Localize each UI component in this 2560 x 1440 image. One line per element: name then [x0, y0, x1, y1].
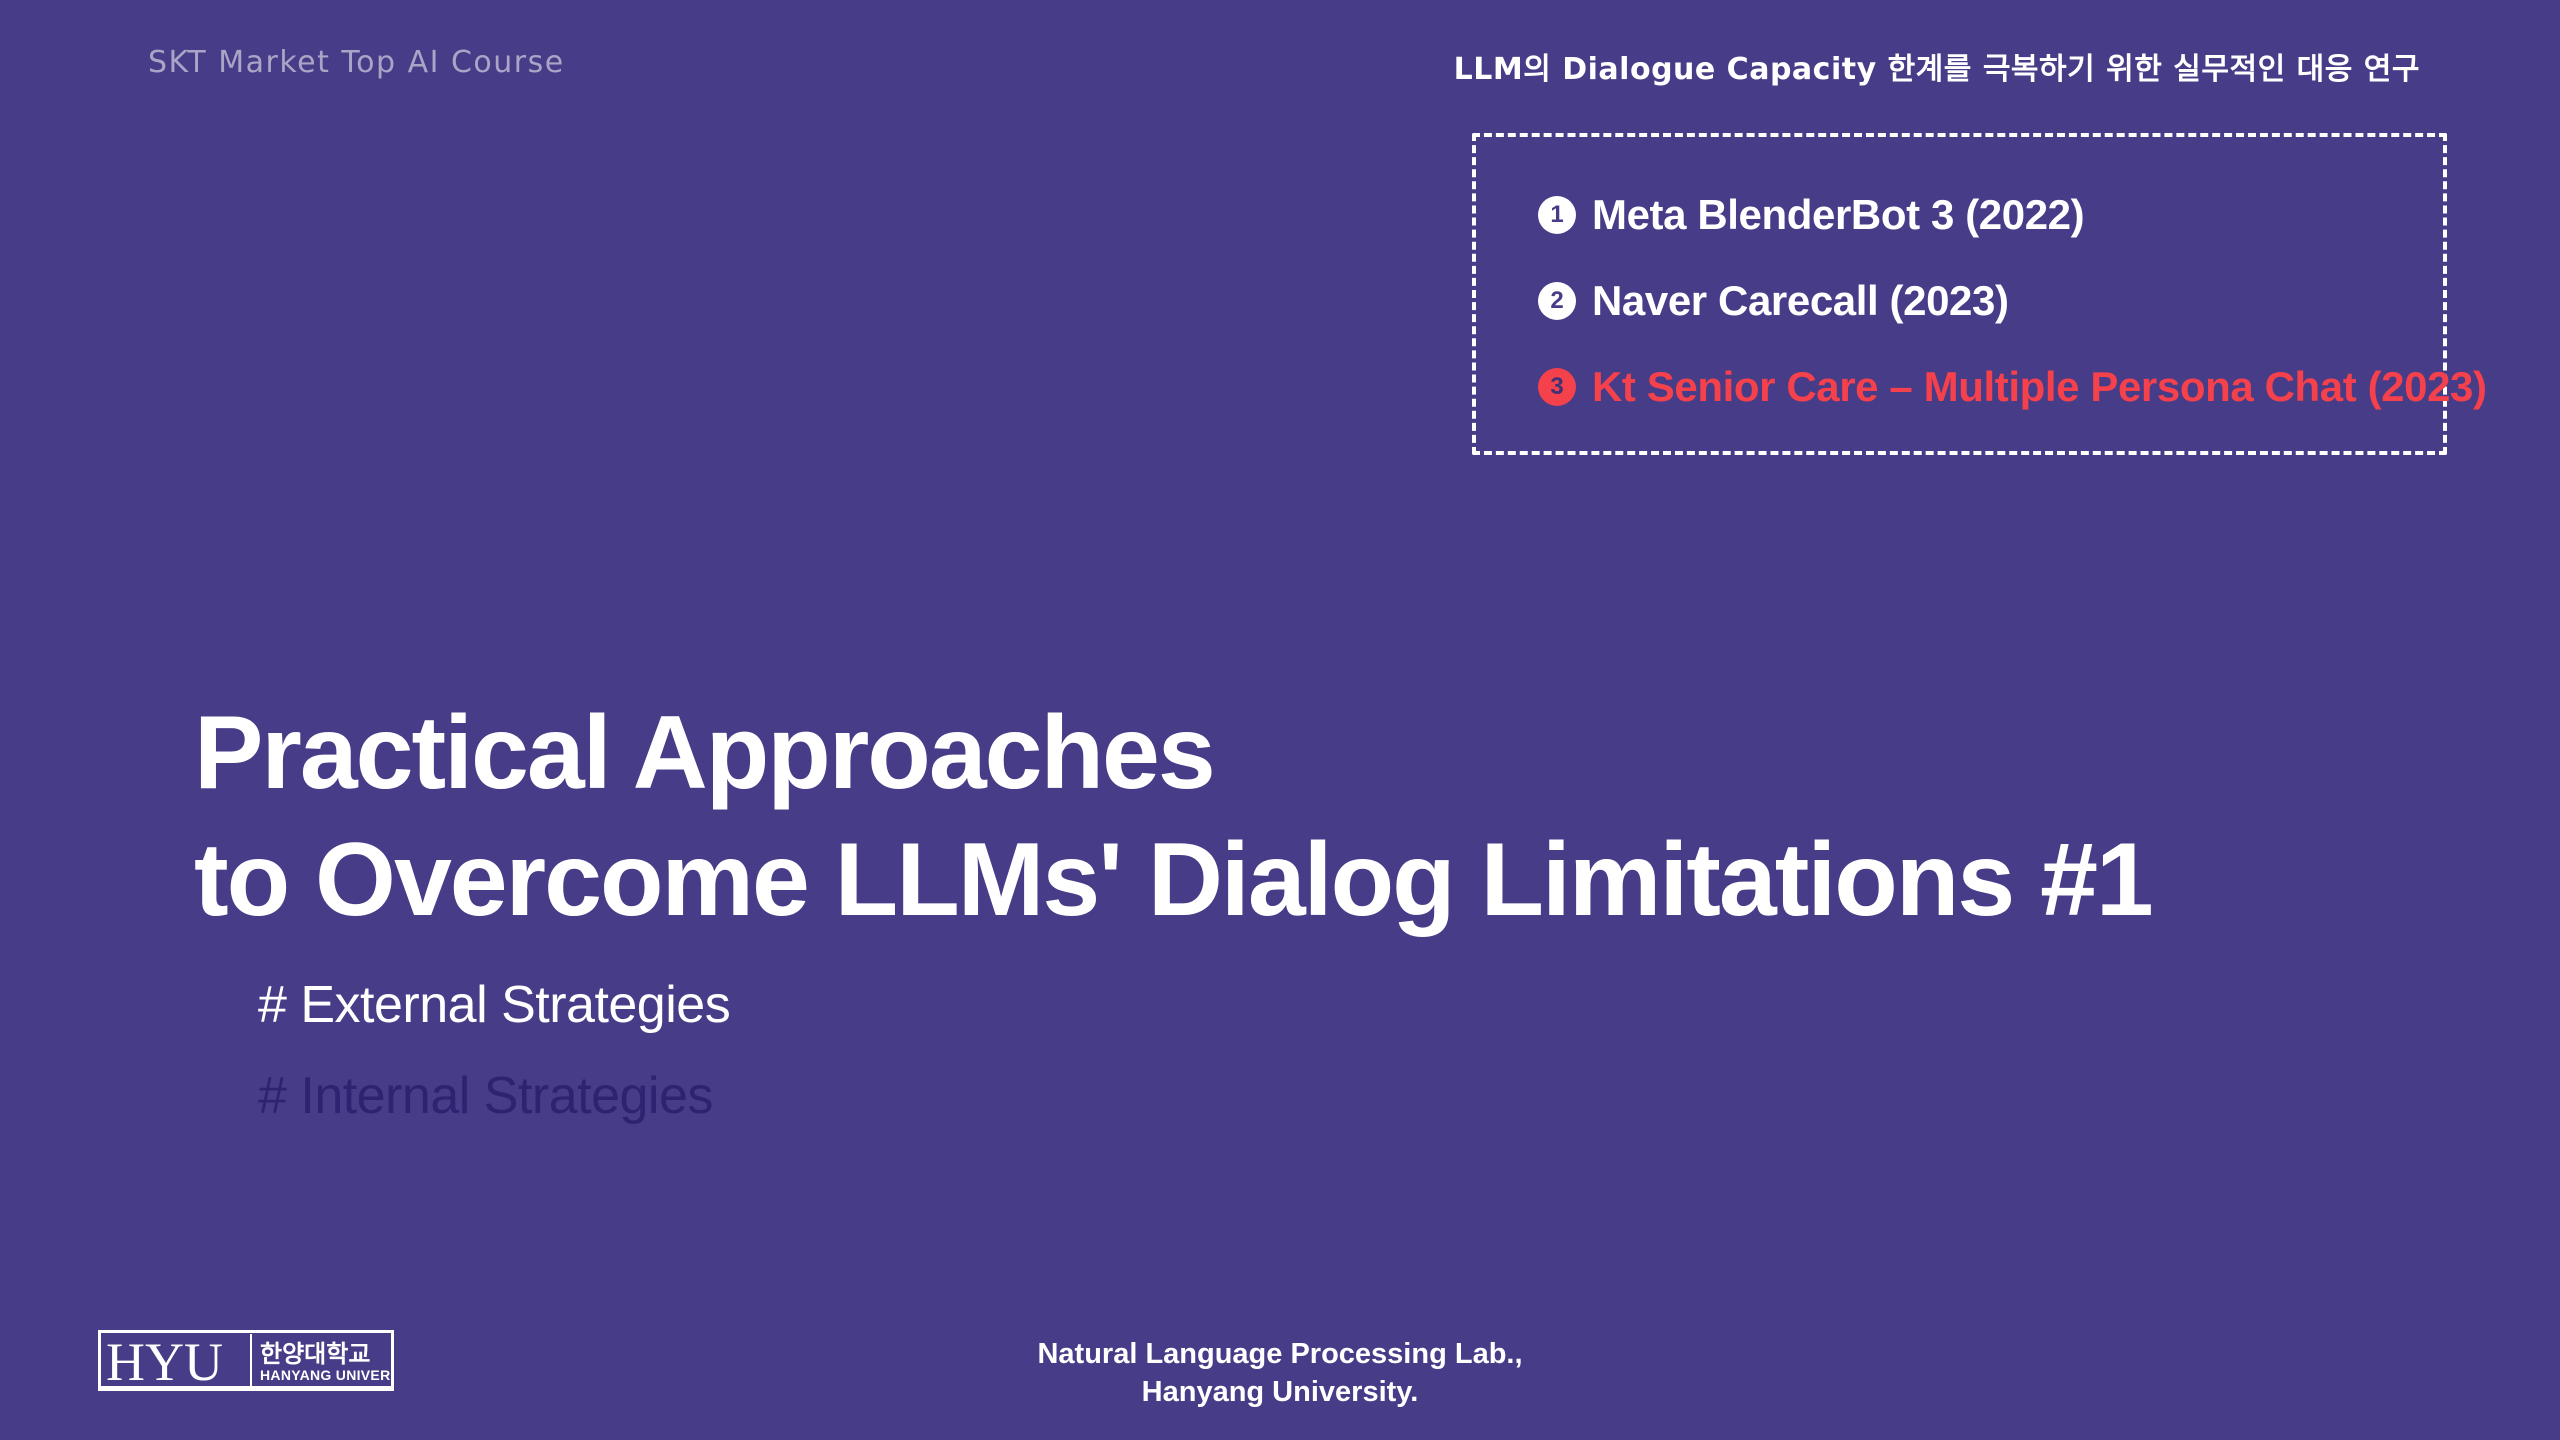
hyu-korean-name: 한양대학교 [260, 1340, 370, 1368]
subtitle-internal-strategies: # Internal Strategies [258, 1066, 713, 1126]
number-badge-1: 1 [1538, 196, 1576, 234]
list-item[interactable]: 1 Meta BlenderBot 3 (2022) [1538, 187, 2487, 243]
page-title: Practical Approaches to Overcome LLMs' D… [194, 690, 2152, 944]
case-study-box: 1 Meta BlenderBot 3 (2022) 2 Naver Carec… [1472, 133, 2447, 455]
page-title-line-1: Practical Approaches [194, 690, 2152, 817]
course-tag: SKT Market Top AI Course [148, 45, 565, 80]
hyu-acronym-text: HYU [106, 1332, 223, 1392]
hyu-logo: HYU 한양대학교 HANYANG UNIVERSITY [98, 1330, 394, 1392]
list-item[interactable]: 2 Naver Carecall (2023) [1538, 273, 2487, 329]
subtitle-external-strategies: # External Strategies [258, 975, 730, 1035]
page-title-line-2: to Overcome LLMs' Dialog Limitations #1 [194, 817, 2152, 944]
case-label-3: Kt Senior Care – Multiple Persona Chat (… [1592, 363, 2487, 411]
lab-credit: Natural Language Processing Lab., Hanyan… [1037, 1335, 1522, 1412]
number-badge-2: 2 [1538, 282, 1576, 320]
number-badge-3: 3 [1538, 368, 1576, 406]
research-title: LLM의 Dialogue Capacity 한계를 극복하기 위한 실무적인 … [1454, 44, 2420, 88]
hyu-logo-mark: HYU 한양대학교 HANYANG UNIVERSITY [98, 1330, 394, 1392]
case-label-1: Meta BlenderBot 3 (2022) [1592, 191, 2084, 239]
list-item[interactable]: 3 Kt Senior Care – Multiple Persona Chat… [1538, 359, 2487, 415]
hyu-english-name: HANYANG UNIVERSITY [260, 1367, 394, 1383]
slide-canvas: SKT Market Top AI Course LLM의 Dialogue C… [0, 0, 2560, 1440]
lab-credit-line-1: Natural Language Processing Lab., [1037, 1335, 1522, 1373]
case-study-list: 1 Meta BlenderBot 3 (2022) 2 Naver Carec… [1538, 187, 2487, 415]
case-label-2: Naver Carecall (2023) [1592, 277, 2009, 325]
lab-credit-line-2: Hanyang University. [1037, 1373, 1522, 1411]
